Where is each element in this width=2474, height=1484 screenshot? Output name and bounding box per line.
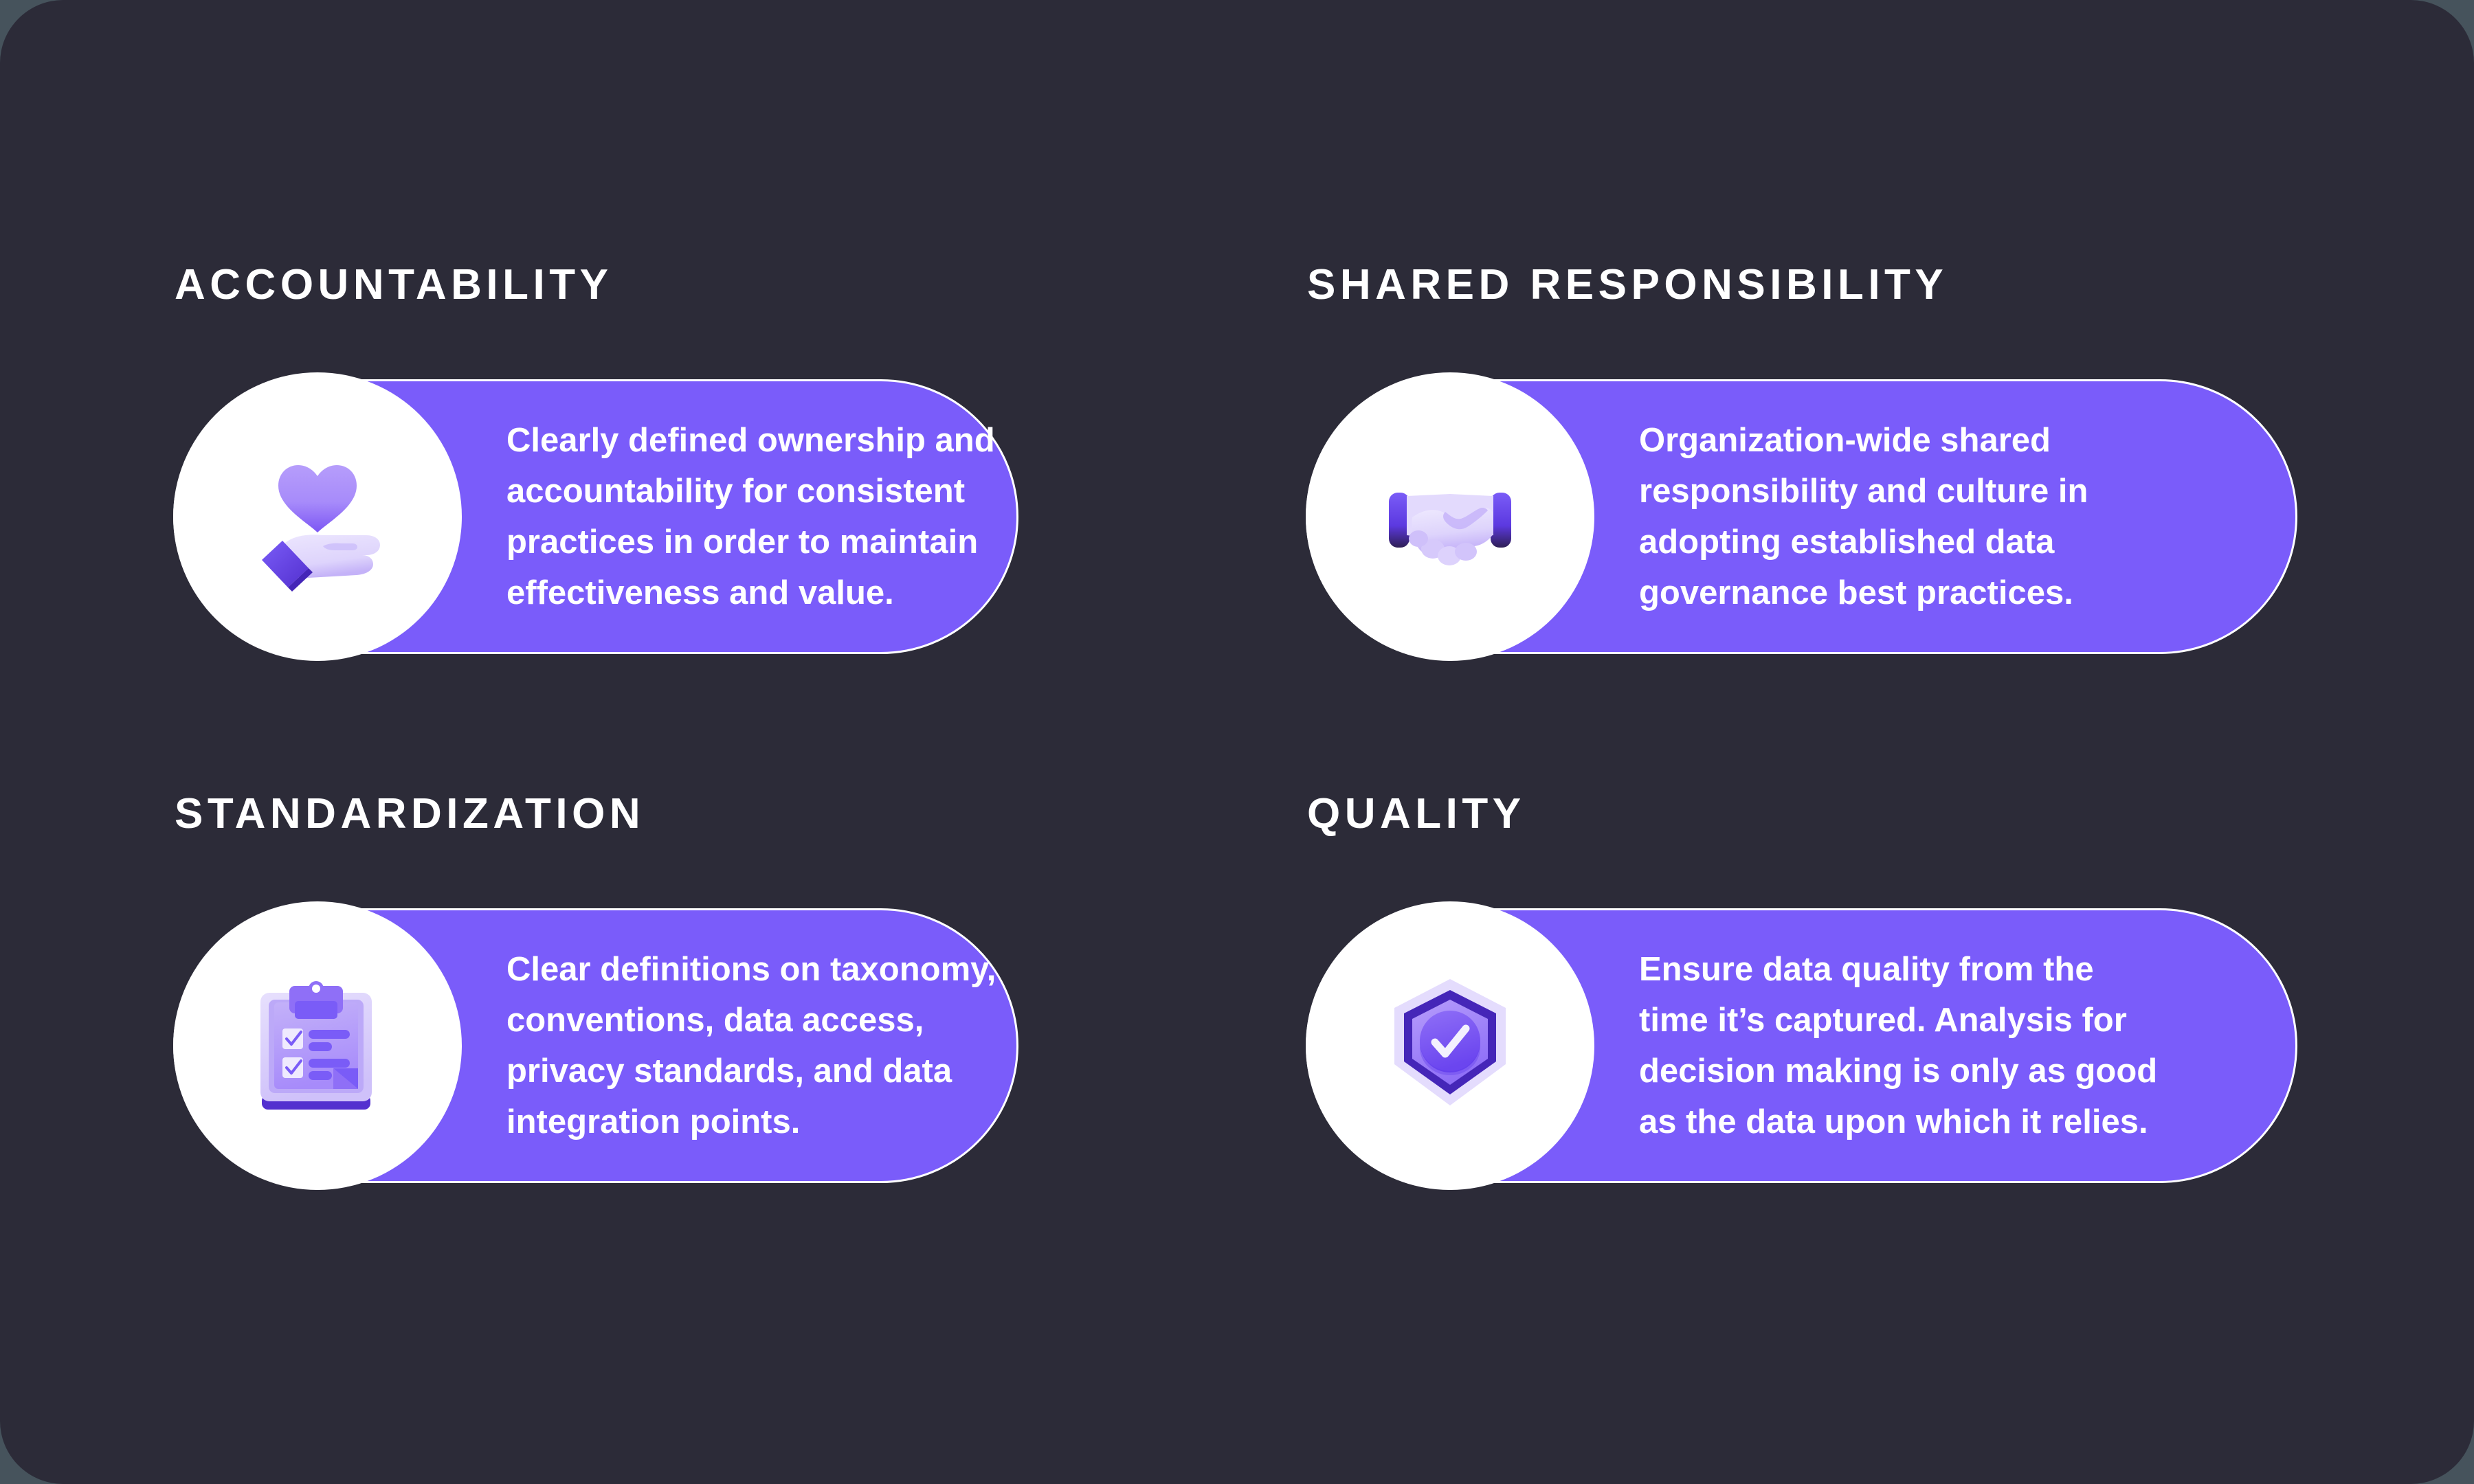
card-description: Clear definitions on taxonomy, conventio…: [506, 944, 1043, 1147]
icon-circle: [173, 372, 462, 661]
card-title: QUALITY: [1306, 790, 1526, 838]
card-accountability: ACCOUNTABILITY Clearly defined ownership…: [173, 261, 612, 661]
card-body: Clear definitions on taxonomy, conventio…: [173, 901, 645, 1190]
clipboard-checklist-icon: [232, 960, 403, 1132]
card-body: Organization-wide shared responsibility …: [1306, 372, 1948, 661]
handshake-icon: [1364, 431, 1536, 603]
card-title: ACCOUNTABILITY: [173, 261, 612, 309]
card-description: Ensure data quality from the time it’s c…: [1639, 944, 2168, 1147]
icon-circle: [173, 901, 462, 1190]
card-body: Ensure data quality from the time it’s c…: [1306, 901, 1526, 1190]
card-description: Clearly defined ownership and accountabi…: [506, 415, 1043, 618]
icon-circle: [1306, 372, 1594, 661]
card-quality: QUALITY Ensure data quality from the tim…: [1306, 790, 1526, 1190]
heart-in-hand-icon: [232, 431, 403, 603]
principles-grid: ACCOUNTABILITY Clearly defined ownership…: [0, 0, 2474, 1484]
icon-circle: [1306, 901, 1594, 1190]
card-shared-responsibility: SHARED RESPONSIBILITY Organization-wide …: [1306, 261, 1948, 661]
shield-check-icon: [1364, 960, 1536, 1132]
card-standardization: STANDARDIZATION Clear definitions on tax…: [173, 790, 645, 1190]
card-description: Organization-wide shared responsibility …: [1639, 415, 2168, 618]
card-title: SHARED RESPONSIBILITY: [1306, 261, 1948, 309]
card-title: STANDARDIZATION: [173, 790, 645, 838]
infographic-panel: ACCOUNTABILITY Clearly defined ownership…: [0, 0, 2474, 1484]
card-body: Clearly defined ownership and accountabi…: [173, 372, 612, 661]
